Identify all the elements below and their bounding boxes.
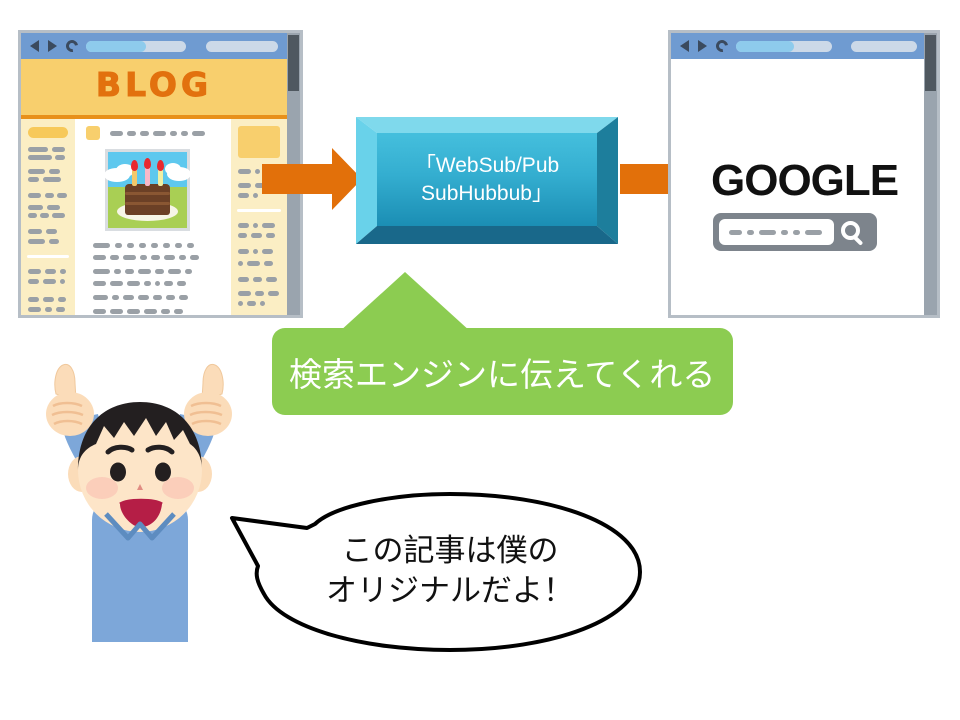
forward-icon[interactable] [698, 40, 707, 52]
address-bar-progress [86, 41, 146, 52]
blog-title: BLOG [21, 65, 287, 104]
speech-line-2: オリジナルだよ！ [270, 572, 630, 612]
blog-browser-window[interactable]: BLOG [18, 30, 303, 318]
hub-box-label: 「WebSub/Pub SubHubbub」 [415, 152, 559, 207]
magnifier-icon[interactable] [841, 221, 867, 247]
person-speech-bubble: この記事は僕の オリジナルだよ！ [222, 482, 662, 662]
diagram-canvas: BLOG [0, 0, 960, 720]
left-hand-pointing-up [46, 364, 94, 436]
address-bar-progress [736, 41, 794, 52]
google-browser-window[interactable]: GOOGLE [668, 30, 940, 318]
blog-page-content: BLOG [21, 59, 287, 315]
blog-titlebar [21, 33, 300, 59]
google-scrollbar-thumb[interactable] [925, 35, 936, 91]
google-titlebar [671, 33, 937, 59]
speech-line-1: この記事は僕の [270, 532, 630, 572]
hub-box-label-line2: SubHubbub」 [421, 182, 553, 205]
blog-article [75, 119, 231, 315]
hub-box-label-line1: 「WebSub/Pub [415, 154, 559, 177]
blog-scrollbar-thumb[interactable] [288, 35, 299, 91]
secondary-bar[interactable] [851, 41, 917, 52]
callout-tail [339, 272, 471, 332]
back-icon[interactable] [30, 40, 39, 52]
callout-text: 検索エンジンに伝えてくれる [272, 348, 715, 396]
search-engine-callout: 検索エンジンに伝えてくれる [272, 328, 733, 415]
blog-left-sidebar [21, 119, 75, 315]
secondary-bar[interactable] [206, 41, 278, 52]
blog-banner: BLOG [21, 59, 287, 119]
article-thumbnail [105, 149, 190, 231]
google-logo: GOOGLE [711, 156, 898, 206]
arrow-blog-to-hub [262, 148, 362, 210]
speech-bubble-text: この記事は僕の オリジナルだよ！ [270, 532, 630, 611]
reload-icon[interactable] [64, 38, 81, 55]
websub-hub-box[interactable]: 「WebSub/Pub SubHubbub」 [356, 117, 618, 244]
google-search-box[interactable] [713, 213, 877, 251]
google-scrollbar[interactable] [924, 33, 937, 315]
address-bar[interactable] [86, 41, 186, 52]
right-hand-pointing-up [184, 364, 232, 436]
reload-icon[interactable] [714, 38, 731, 55]
search-input[interactable] [719, 219, 834, 245]
back-icon[interactable] [680, 40, 689, 52]
google-page-content: GOOGLE [671, 59, 924, 315]
address-bar[interactable] [736, 41, 832, 52]
hub-box-face: 「WebSub/Pub SubHubbub」 [377, 133, 597, 226]
forward-icon[interactable] [48, 40, 57, 52]
